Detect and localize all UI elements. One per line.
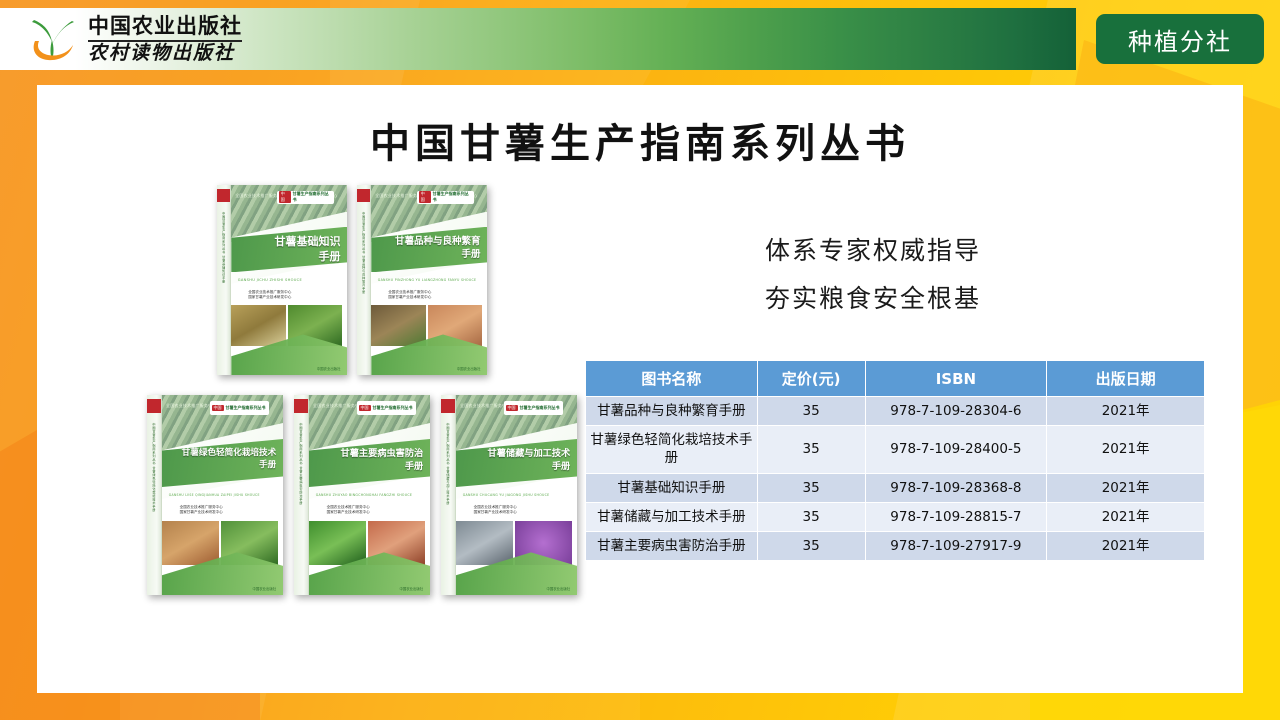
book-title-line-1: 甘薯储藏与加工技术 [463,449,570,460]
book-author-block: 全国农业技术推广服务中心 国家甘薯产业技术研发中心 [248,290,291,300]
sprout-logo-icon [26,14,80,64]
tagline-line-1: 体系专家权威指导 [765,227,981,275]
cover-publisher-footer: 中国农业出版社 [348,586,423,591]
cell-price: 35 [757,502,865,531]
tagline-line-2: 夯实粮食安全根基 [765,275,981,323]
cover-photo [371,305,425,347]
table-row[interactable]: 甘薯品种与良种繁育手册 35 978-7-109-28304-6 2021年 [586,397,1205,426]
division-badge-label: 种植分社 [1128,22,1232,57]
spine-accent [294,399,308,413]
table-head: 图书名称 定价(元) ISBN 出版日期 [586,361,1205,397]
book-title-pinyin: GANSHU LVSE QINGJIANHUA ZAIPEI JISHU SHO… [169,493,276,497]
series-chip: 中国 甘薯生产指南系列丛书 [357,401,417,415]
series-chip-cn: 中国 [506,405,518,411]
content-panel: 中国甘薯生产指南系列丛书 体系专家权威指导 夯实粮食安全根基 中国甘薯生产指南系… [37,85,1243,693]
book-author-block: 全国农业技术推广服务中心 国家甘薯产业技术研发中心 [180,505,223,515]
series-chip-text: 甘薯生产指南系列丛书 [433,191,472,203]
book-spine: 中国甘薯生产指南系列丛书 甘薯储藏与加工技术手册 [441,395,456,595]
table-row[interactable]: 甘薯基础知识手册 35 978-7-109-28368-8 2021年 [586,473,1205,502]
publisher-name-secondary: 农村读物出版社 [88,44,242,63]
cell-price: 35 [757,397,865,426]
spine-accent [357,189,370,202]
cell-date: 2021年 [1047,426,1205,473]
book-spine-text: 中国甘薯生产指南系列丛书 甘薯基础知识手册 [221,212,226,283]
book-title-pinyin: GANSHU CHUCANG YU JIAGONG JISHU SHOUCE [463,493,570,497]
book-spine-text: 中国甘薯生产指南系列丛书 甘薯储藏与加工技术手册 [445,423,450,505]
book-cover-title: 甘薯主要病虫害防治 手册 [316,449,423,472]
cell-price: 35 [757,532,865,561]
column-header-isbn[interactable]: ISBN [865,361,1047,397]
book-title-line-2: 手册 [238,251,341,264]
cell-date: 2021年 [1047,473,1205,502]
table-header-row: 图书名称 定价(元) ISBN 出版日期 [586,361,1205,397]
book-title-line-1: 甘薯主要病虫害防治 [316,449,423,460]
cell-price: 35 [757,473,865,502]
series-chip: 中国 甘薯生产指南系列丛书 [210,401,270,415]
series-chip-cn: 中国 [212,405,224,411]
column-header-price[interactable]: 定价(元) [757,361,865,397]
book-cover[interactable]: 中国甘薯生产指南系列丛书 甘薯品种与良种繁育手册 全国农业技术推广服务中心 国家… [357,185,487,375]
cell-date: 2021年 [1047,532,1205,561]
book-title-line-2: 手册 [463,462,570,473]
book-author-line-1: 全国农业技术推广服务中心 [248,290,291,295]
series-chip-text: 甘薯生产指南系列丛书 [293,191,332,203]
book-spine-text: 中国甘薯生产指南系列丛书 甘薯绿色轻简化栽培技术手册 [151,423,156,512]
spine-accent [217,189,230,202]
publisher-name-primary: 中国农业出版社 [88,16,242,37]
table-body: 甘薯品种与良种繁育手册 35 978-7-109-28304-6 2021年 甘… [586,397,1205,561]
book-author-line-2: 国家甘薯产业技术研发中心 [180,510,223,515]
book-cover-gallery: 中国甘薯生产指南系列丛书 甘薯基础知识手册 全国农业技术推广服务中心 国家甘薯产… [112,185,612,615]
book-author-line-2: 国家甘薯产业技术研发中心 [248,295,291,300]
book-cover-title: 甘薯品种与良种繁育 手册 [378,236,481,260]
book-cover-title: 甘薯储藏与加工技术 手册 [463,449,570,472]
book-spine-text: 中国甘薯生产指南系列丛书 甘薯品种与良种繁育手册 [361,212,366,294]
book-spine-text: 中国甘薯生产指南系列丛书 甘薯主要病虫害防治手册 [298,423,303,505]
cell-date: 2021年 [1047,502,1205,531]
book-author-block: 全国农业技术推广服务中心 国家甘薯产业技术研发中心 [474,505,517,515]
series-chip-cn: 中国 [359,405,371,411]
division-badge[interactable]: 种植分社 [1096,14,1264,64]
book-title-line-2: 手册 [316,462,423,473]
book-author-line-1: 全国农业技术推广服务中心 [388,290,431,295]
book-title-line-1: 甘薯绿色轻简化栽培技术 [169,449,276,459]
publisher-logo: 中国农业出版社 农村读物出版社 [26,14,242,64]
book-title-pinyin: GANSHU ZHUYAO BINGCHONGHAI FANGZHI SHOUC… [316,493,423,497]
book-title-line-1: 甘薯基础知识 [238,236,341,249]
cell-book-name: 甘薯基础知识手册 [586,473,758,502]
cover-photo [162,521,219,565]
book-author-line-2: 国家甘薯产业技术研发中心 [474,510,517,515]
book-title-pinyin: GANSHU JICHU ZHISHI SHOUCE [238,278,341,282]
table-row[interactable]: 甘薯绿色轻简化栽培技术手册 35 978-7-109-28400-5 2021年 [586,426,1205,473]
cell-book-name: 甘薯绿色轻简化栽培技术手册 [586,426,758,473]
cell-price: 35 [757,426,865,473]
book-author-line-2: 国家甘薯产业技术研发中心 [388,295,431,300]
book-list-table: 图书名称 定价(元) ISBN 出版日期 甘薯品种与良种繁育手册 35 978-… [585,360,1205,561]
book-title-line-2: 手册 [169,461,276,471]
cell-isbn: 978-7-109-28304-6 [865,397,1047,426]
series-chip: 中国 甘薯生产指南系列丛书 [277,191,334,204]
book-spine: 中国甘薯生产指南系列丛书 甘薯主要病虫害防治手册 [294,395,309,595]
series-chip-cn: 中国 [279,191,291,203]
page-title: 中国甘薯生产指南系列丛书 [37,111,1243,169]
series-chip-cn: 中国 [419,191,431,203]
cell-book-name: 甘薯品种与良种繁育手册 [586,397,758,426]
book-spine: 中国甘薯生产指南系列丛书 甘薯品种与良种繁育手册 [357,185,371,375]
cover-publisher-footer: 中国农业出版社 [409,366,481,371]
series-chip-text: 甘薯生产指南系列丛书 [373,405,413,411]
cell-book-name: 甘薯储藏与加工技术手册 [586,502,758,531]
book-author-line-2: 国家甘薯产业技术研发中心 [327,510,370,515]
cell-isbn: 978-7-109-27917-9 [865,532,1047,561]
tagline-block: 体系专家权威指导 夯实粮食安全根基 [765,227,981,322]
book-spine: 中国甘薯生产指南系列丛书 甘薯绿色轻简化栽培技术手册 [147,395,162,595]
spine-accent [441,399,455,413]
column-header-date[interactable]: 出版日期 [1047,361,1205,397]
series-chip: 中国 甘薯生产指南系列丛书 [417,191,474,204]
book-cover[interactable]: 中国甘薯生产指南系列丛书 甘薯基础知识手册 全国农业技术推广服务中心 国家甘薯产… [217,185,347,375]
book-title-line-2: 手册 [378,249,481,260]
cell-book-name: 甘薯主要病虫害防治手册 [586,532,758,561]
column-header-name[interactable]: 图书名称 [586,361,758,397]
slide-header: 中国农业出版社 农村读物出版社 种植分社 [0,8,1280,70]
presentation-slide: 中国农业出版社 农村读物出版社 种植分社 中国甘薯生产指南系列丛书 体系专家权威… [0,0,1280,720]
cell-isbn: 978-7-109-28368-8 [865,473,1047,502]
cover-publisher-footer: 中国农业出版社 [495,586,570,591]
cell-isbn: 978-7-109-28400-5 [865,426,1047,473]
book-cover-title: 甘薯基础知识 手册 [238,236,341,264]
table-row[interactable]: 甘薯主要病虫害防治手册 35 978-7-109-27917-9 2021年 [586,532,1205,561]
cover-publisher-footer: 中国农业出版社 [201,586,276,591]
book-author-block: 全国农业技术推广服务中心 国家甘薯产业技术研发中心 [388,290,431,300]
book-cover[interactable]: 中国甘薯生产指南系列丛书 甘薯绿色轻简化栽培技术手册 全国农业技术推广服务中心 … [147,395,283,595]
publisher-name-block: 中国农业出版社 农村读物出版社 [88,16,242,63]
book-author-block: 全国农业技术推广服务中心 国家甘薯产业技术研发中心 [327,505,370,515]
book-cover[interactable]: 中国甘薯生产指南系列丛书 甘薯储藏与加工技术手册 全国农业技术推广服务中心 国家… [441,395,577,595]
series-chip: 中国 甘薯生产指南系列丛书 [504,401,564,415]
cell-isbn: 978-7-109-28815-7 [865,502,1047,531]
book-cover-title: 甘薯绿色轻简化栽培技术 手册 [169,449,276,471]
book-title-pinyin: GANSHU PINZHONG YU LIANGZHONG FANYU SHOU… [378,278,481,282]
series-chip-text: 甘薯生产指南系列丛书 [520,405,560,411]
cell-date: 2021年 [1047,397,1205,426]
series-chip-text: 甘薯生产指南系列丛书 [226,405,266,411]
table-row[interactable]: 甘薯储藏与加工技术手册 35 978-7-109-28815-7 2021年 [586,502,1205,531]
book-cover[interactable]: 中国甘薯生产指南系列丛书 甘薯主要病虫害防治手册 全国农业技术推广服务中心 国家… [294,395,430,595]
spine-accent [147,399,161,413]
cover-photo [231,305,285,347]
book-spine: 中国甘薯生产指南系列丛书 甘薯基础知识手册 [217,185,231,375]
cover-publisher-footer: 中国农业出版社 [269,366,341,371]
cover-photo [309,521,366,565]
cover-photo [456,521,513,565]
book-title-line-1: 甘薯品种与良种繁育 [378,236,481,247]
